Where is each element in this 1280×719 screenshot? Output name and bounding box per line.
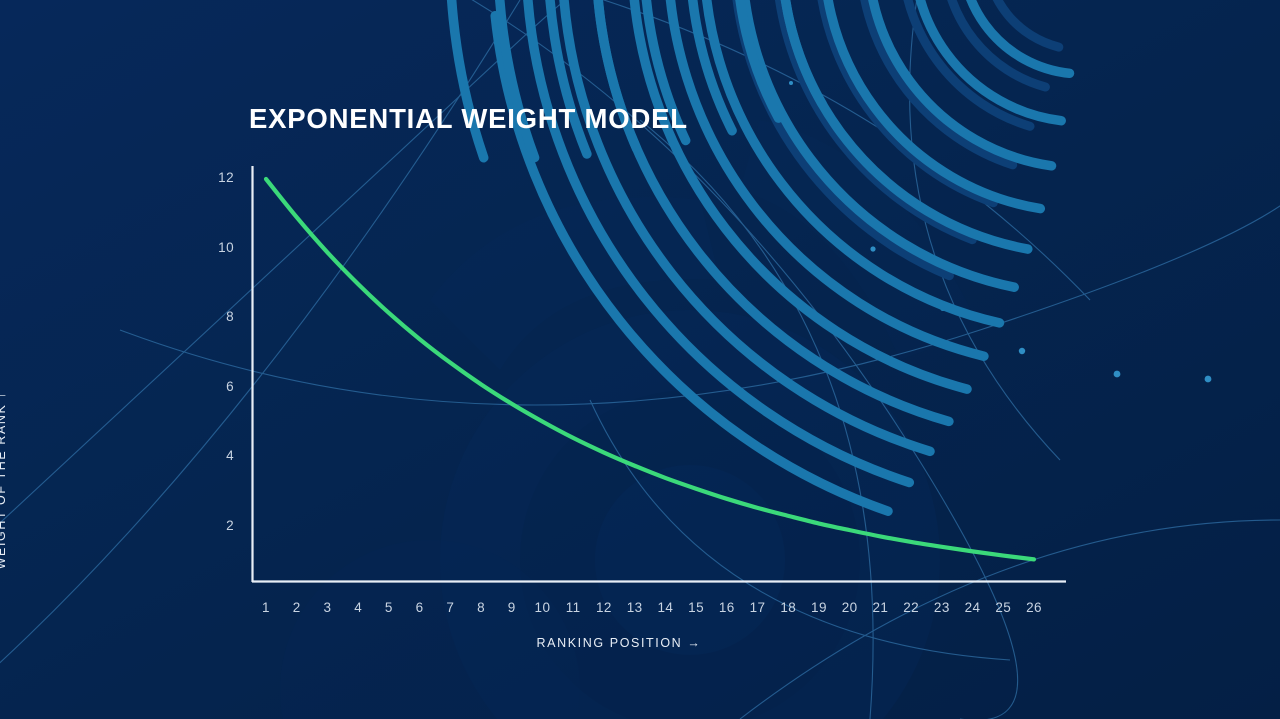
x-tick-label: 20 (836, 600, 864, 615)
axes (252, 166, 1066, 582)
x-tick-label: 10 (528, 600, 556, 615)
y-tick-label: 4 (198, 448, 234, 463)
exponential-curve (266, 179, 1034, 559)
y-tick-label: 8 (198, 309, 234, 324)
x-tick-label: 15 (682, 600, 710, 615)
x-tick-label: 16 (713, 600, 741, 615)
x-tick-label: 5 (375, 600, 403, 615)
y-tick-label: 12 (198, 170, 234, 185)
x-axis-label-text: RANKING POSITION → (537, 636, 702, 650)
x-tick-label: 12 (590, 600, 618, 615)
x-tick-label: 21 (866, 600, 894, 615)
x-axis-label: RANKING POSITION → (0, 636, 1280, 650)
x-tick-label: 13 (621, 600, 649, 615)
x-tick-label: 14 (651, 600, 679, 615)
page-title: EXPONENTIAL WEIGHT MODEL (249, 103, 688, 135)
x-tick-label: 6 (406, 600, 434, 615)
x-tick-label: 22 (897, 600, 925, 615)
x-tick-label: 7 (436, 600, 464, 615)
y-tick-label: 10 (198, 240, 234, 255)
x-tick-label: 19 (805, 600, 833, 615)
y-tick-label: 6 (198, 379, 234, 394)
y-axis-label: WEIGHT OF THE RANK ↑ (0, 370, 8, 590)
slide-canvas: EXPONENTIAL WEIGHT MODEL 12108642 123456… (0, 0, 1280, 719)
x-tick-label: 3 (313, 600, 341, 615)
x-tick-label: 23 (928, 600, 956, 615)
y-axis-label-text: WEIGHT OF THE RANK ↑ (0, 391, 8, 570)
x-tick-label: 17 (744, 600, 772, 615)
x-tick-label: 9 (498, 600, 526, 615)
y-tick-label: 2 (198, 518, 234, 533)
x-tick-label: 18 (774, 600, 802, 615)
x-tick-label: 8 (467, 600, 495, 615)
x-tick-label: 11 (559, 600, 587, 615)
x-tick-label: 2 (283, 600, 311, 615)
x-tick-label: 24 (959, 600, 987, 615)
x-tick-label: 26 (1020, 600, 1048, 615)
x-tick-label: 25 (989, 600, 1017, 615)
x-tick-label: 1 (252, 600, 280, 615)
x-tick-label: 4 (344, 600, 372, 615)
